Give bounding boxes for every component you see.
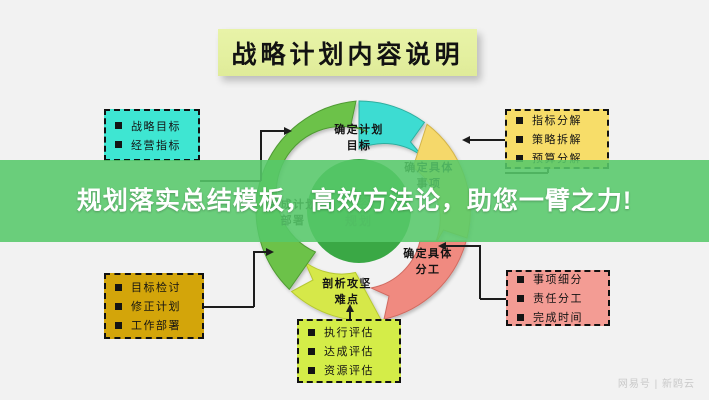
callout-item-text: 战略目标 (131, 118, 181, 134)
connector-bottom-right-h1 (480, 298, 507, 300)
callout-item-text: 经营指标 (131, 137, 181, 153)
square-bullet-icon (115, 303, 122, 310)
segment-key-difficulties-line1: 剖析攻坚 (322, 276, 372, 290)
callout-item-text: 资源评估 (324, 362, 374, 378)
list-item: 执行评估 (308, 324, 393, 340)
square-bullet-icon (115, 322, 122, 329)
list-item: 战略目标 (115, 118, 192, 134)
page-title-text: 战略计划内容说明 (231, 35, 463, 71)
segment-plan-goal-line2: 目标 (347, 138, 372, 152)
callout-item-text: 事项细分 (533, 271, 583, 287)
square-bullet-icon (517, 314, 524, 321)
connector-bottom-left-h1 (204, 306, 254, 308)
segment-specific-roles-line2: 分工 (416, 262, 441, 276)
square-bullet-icon (115, 122, 122, 129)
callout-task-division[interactable]: 事项细分 责任分工 完成时间 (506, 270, 610, 326)
list-item: 修正计划 (115, 298, 196, 314)
callout-item-text: 执行评估 (324, 324, 374, 340)
callout-item-text: 指标分解 (532, 112, 582, 128)
square-bullet-icon (115, 141, 122, 148)
page-title: 战略计划内容说明 (218, 29, 477, 76)
connector-top-left-arrowhead (284, 127, 292, 135)
list-item: 策略拆解 (516, 131, 601, 147)
callout-item-text: 工作部署 (131, 317, 181, 333)
square-bullet-icon (517, 276, 524, 283)
list-item: 目标检讨 (115, 279, 196, 295)
connector-bottom-center-arrowhead (346, 304, 354, 312)
callout-goal-review[interactable]: 目标检讨 修正计划 工作部署 (104, 273, 204, 339)
callout-item-text: 修正计划 (131, 298, 181, 314)
diagram-canvas: 战略计划内容说明 (0, 0, 709, 400)
list-item: 指标分解 (516, 112, 601, 128)
list-item: 责任分工 (517, 290, 602, 306)
watermark: 网易号 | 新鸥云 (618, 375, 695, 390)
connector-top-left-h2 (260, 130, 284, 132)
connector-bottom-left-h2 (253, 251, 267, 253)
square-bullet-icon (308, 348, 315, 355)
headline-text: 规划落实总结模板，高效方法论，助您一臂之力! (35, 186, 675, 217)
square-bullet-icon (115, 284, 122, 291)
square-bullet-icon (516, 136, 523, 143)
list-item: 完成时间 (517, 309, 602, 325)
square-bullet-icon (517, 295, 524, 302)
callout-evaluation[interactable]: 执行评估 达成评估 资源评估 (297, 319, 401, 383)
callout-item-text: 责任分工 (533, 290, 583, 306)
segment-plan-goal-line1: 确定计划 (334, 122, 384, 136)
connector-bottom-right-h2 (446, 245, 480, 247)
list-item: 达成评估 (308, 343, 393, 359)
list-item: 工作部署 (115, 317, 196, 333)
callout-item-text: 策略拆解 (532, 131, 582, 147)
headline-banner: 规划落实总结模板，高效方法论，助您一臂之力! (0, 160, 709, 242)
callout-item-text: 完成时间 (533, 309, 583, 325)
list-item: 经营指标 (115, 137, 192, 153)
square-bullet-icon (308, 329, 315, 336)
connector-bottom-right-arrowhead (438, 242, 446, 250)
connector-top-right-arrowhead (462, 136, 470, 144)
square-bullet-icon (308, 367, 315, 374)
callout-item-text: 达成评估 (324, 343, 374, 359)
connector-bottom-right-v (479, 245, 481, 299)
list-item: 资源评估 (308, 362, 393, 378)
list-item: 事项细分 (517, 271, 602, 287)
callout-strategy-goals[interactable]: 战略目标 经营指标 (104, 109, 200, 161)
connector-bottom-left-v (253, 251, 255, 307)
callout-item-text: 目标检讨 (131, 279, 181, 295)
connector-bottom-left-arrowhead (266, 248, 274, 256)
square-bullet-icon (516, 117, 523, 124)
segment-key-difficulties (292, 262, 382, 321)
